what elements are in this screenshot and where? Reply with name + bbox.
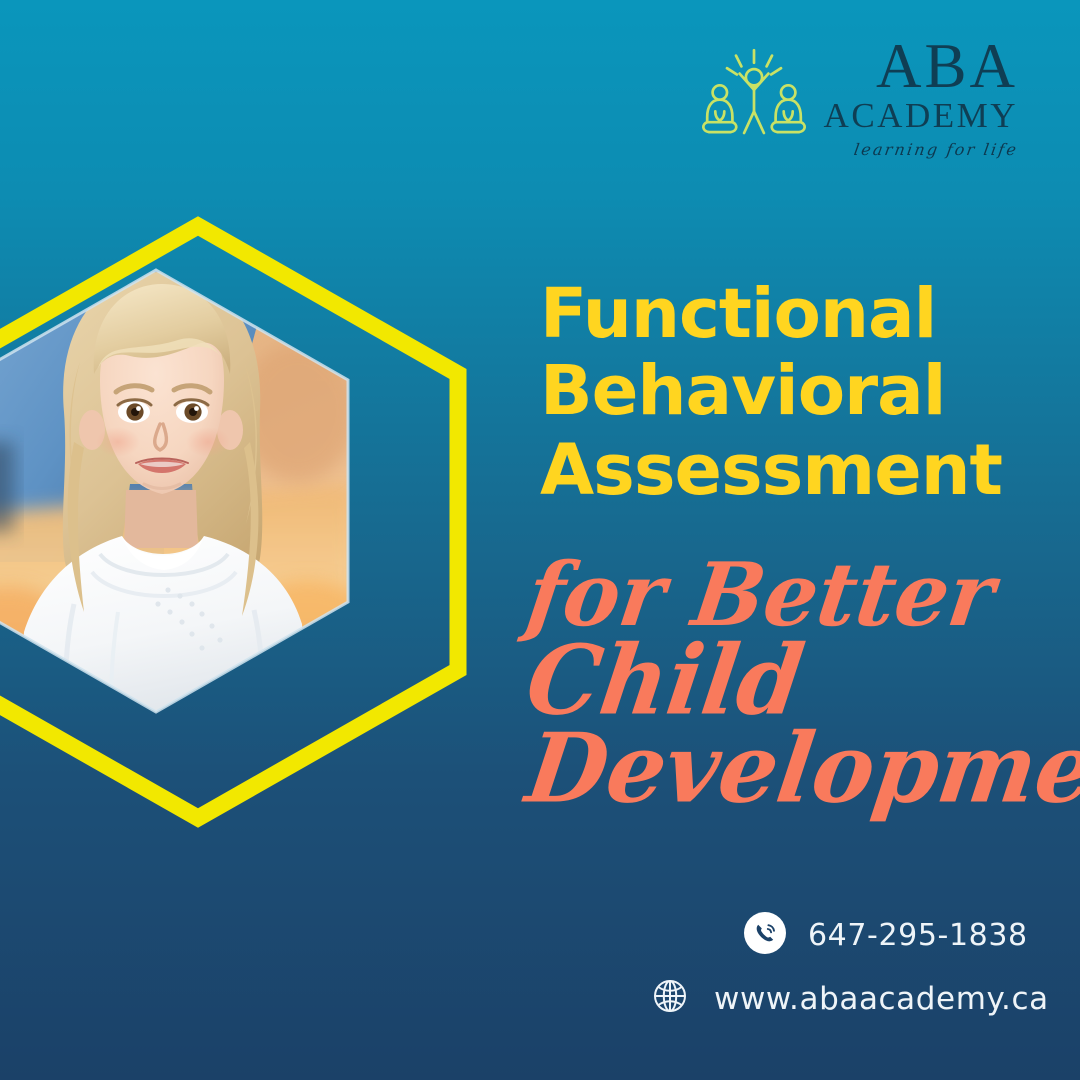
globe-icon (648, 974, 692, 1023)
phone-number: 647-295-1838 (808, 918, 1028, 953)
contact-block: 647-295-1838 www.abaacademy.ca (0, 0, 1080, 1080)
social-media-poster: ABA ACADEMY learning for life Functional… (0, 0, 1080, 1080)
contact-website[interactable]: www.abaacademy.ca (648, 974, 1049, 1023)
website-url: www.abaacademy.ca (714, 981, 1049, 1017)
contact-phone[interactable]: 647-295-1838 (744, 912, 1028, 959)
phone-icon (744, 912, 786, 959)
